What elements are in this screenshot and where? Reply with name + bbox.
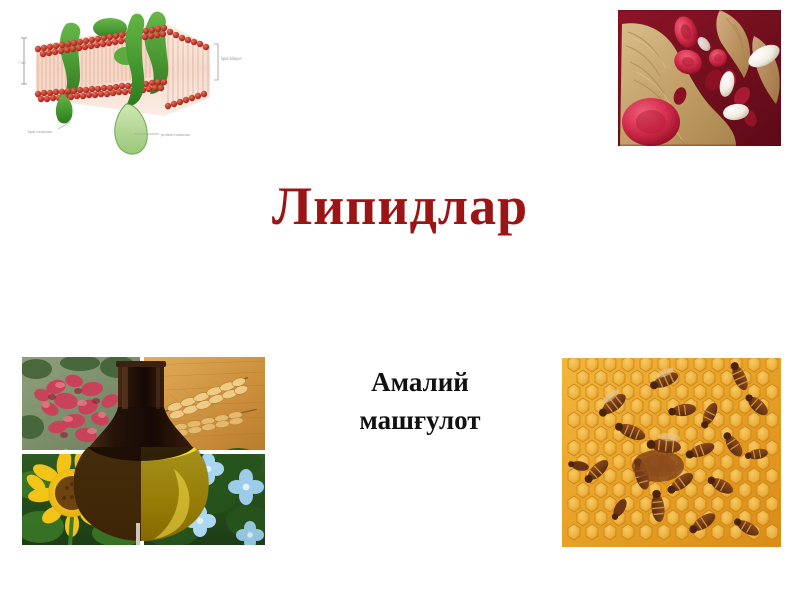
artery-plaque-photo (618, 10, 781, 146)
protein-molecule-caption: protein molecule (161, 132, 191, 137)
bilayer-caption: lipid bilayer (221, 56, 242, 61)
oil-sources-collage (22, 357, 265, 545)
artery-illustration (618, 10, 781, 146)
subtitle-line-2: машғулот (290, 401, 550, 439)
thickness-label: 7 nm (18, 61, 26, 65)
subtitle: Амалий машғулот (290, 363, 550, 440)
page-title: Липидлар (0, 178, 800, 235)
honeycomb-illustration (562, 358, 781, 547)
cell-membrane-diagram: 7 nm lipid bilayer lipid molecule protei… (14, 6, 242, 164)
lipid-molecule-caption: lipid molecule (28, 129, 53, 134)
honeycomb-bees-photo (562, 358, 781, 547)
slide-canvas: 7 nm lipid bilayer lipid molecule protei… (0, 0, 800, 600)
membrane-illustration: 7 nm lipid bilayer lipid molecule protei… (14, 6, 242, 164)
oil-collage-illustration (22, 357, 265, 545)
subtitle-line-1: Амалий (290, 363, 550, 401)
